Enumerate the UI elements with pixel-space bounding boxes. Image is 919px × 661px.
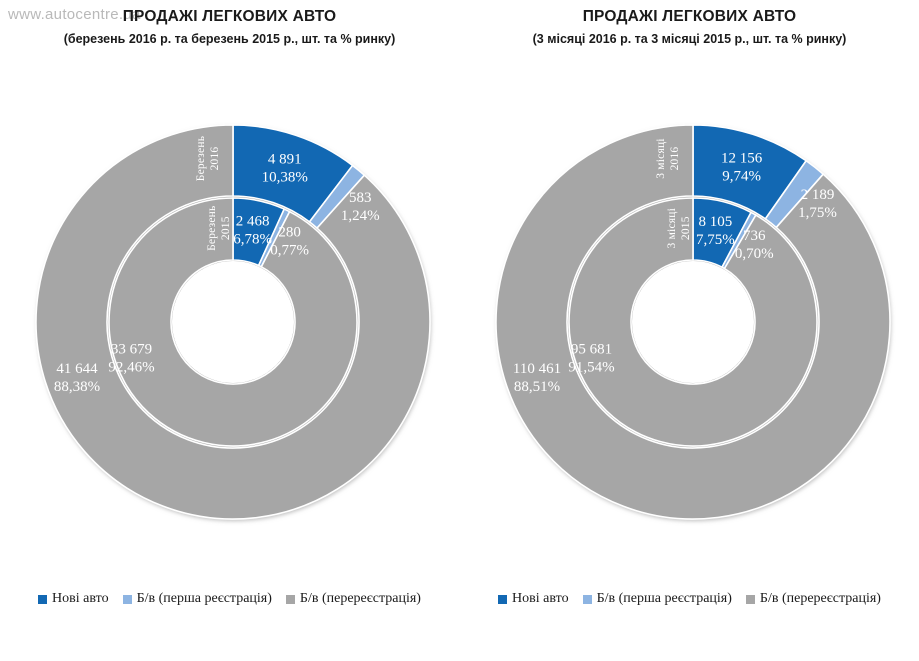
donut-svg-monthly: 4 89110,38%5831,24%41 64488,38%Березень2… — [0, 0, 459, 585]
legend-swatch-icon — [38, 595, 47, 604]
legend-label: Нові авто — [512, 592, 569, 606]
slice-value-label: 2 468 — [236, 214, 270, 230]
donut-center-hole — [632, 261, 754, 383]
slice-percent-label: 1,24% — [341, 208, 380, 224]
legend-label: Б/в (перша реєстрація) — [597, 592, 732, 606]
slice-percent-label: 6,78% — [233, 232, 272, 248]
legend-item[interactable]: Нові авто — [498, 592, 569, 606]
legend-swatch-icon — [746, 595, 755, 604]
legend-swatch-icon — [286, 595, 295, 604]
legend-item[interactable]: Б/в (перша реєстрація) — [583, 592, 732, 606]
slice-value-label: 8 105 — [699, 214, 733, 230]
donut-chart-monthly: 4 89110,38%5831,24%41 64488,38%Березень2… — [0, 0, 459, 585]
legend-swatch-icon — [123, 595, 132, 604]
donut-svg-quarterly: 12 1569,74%2 1891,75%110 46188,51%3 міся… — [460, 0, 919, 585]
slice-value-label: 736 — [743, 228, 766, 244]
slice-value-label: 12 156 — [721, 150, 763, 166]
legend-label: Б/в (перереєстрація) — [760, 592, 881, 606]
slice-percent-label: 88,38% — [54, 379, 100, 395]
slice-value-label: 2 189 — [801, 187, 835, 203]
slice-percent-label: 9,74% — [722, 168, 761, 184]
slice-value-label: 41 644 — [56, 361, 98, 377]
slice-percent-label: 10,38% — [262, 169, 308, 185]
chart-legend-quarterly: Нові автоБ/в (перша реєстрація)Б/в (пере… — [460, 592, 919, 606]
legend-swatch-icon — [498, 595, 507, 604]
slice-percent-label: 0,77% — [270, 242, 309, 258]
legend-label: Б/в (перша реєстрація) — [137, 592, 272, 606]
slice-percent-label: 91,54% — [568, 359, 614, 375]
chart-panel-quarterly: ПРОДАЖІ ЛЕГКОВИХ АВТО (3 місяці 2016 р. … — [460, 0, 919, 661]
legend-item[interactable]: Б/в (перша реєстрація) — [123, 592, 272, 606]
legend-label: Нові авто — [52, 592, 109, 606]
chart-panel-monthly: ПРОДАЖІ ЛЕГКОВИХ АВТО (березень 2016 р. … — [0, 0, 459, 661]
donut-center-hole — [172, 261, 294, 383]
slice-value-label: 33 679 — [111, 341, 152, 357]
legend-item[interactable]: Б/в (перереєстрація) — [746, 592, 881, 606]
slice-percent-label: 92,46% — [108, 359, 154, 375]
chart-legend-monthly: Нові автоБ/в (перша реєстрація)Б/в (пере… — [0, 592, 459, 606]
slice-value-label: 583 — [349, 190, 372, 206]
donut-chart-quarterly: 12 1569,74%2 1891,75%110 46188,51%3 міся… — [460, 0, 919, 585]
legend-item[interactable]: Б/в (перереєстрація) — [286, 592, 421, 606]
legend-item[interactable]: Нові авто — [38, 592, 109, 606]
slice-value-label: 4 891 — [268, 151, 302, 167]
legend-label: Б/в (перереєстрація) — [300, 592, 421, 606]
slice-percent-label: 88,51% — [514, 379, 560, 395]
slice-value-label: 110 461 — [513, 361, 561, 377]
slice-value-label: 280 — [278, 224, 301, 240]
slice-percent-label: 1,75% — [798, 205, 837, 221]
slice-percent-label: 0,70% — [735, 246, 774, 262]
legend-swatch-icon — [583, 595, 592, 604]
slice-percent-label: 7,75% — [696, 232, 735, 248]
slice-value-label: 95 681 — [571, 341, 612, 357]
